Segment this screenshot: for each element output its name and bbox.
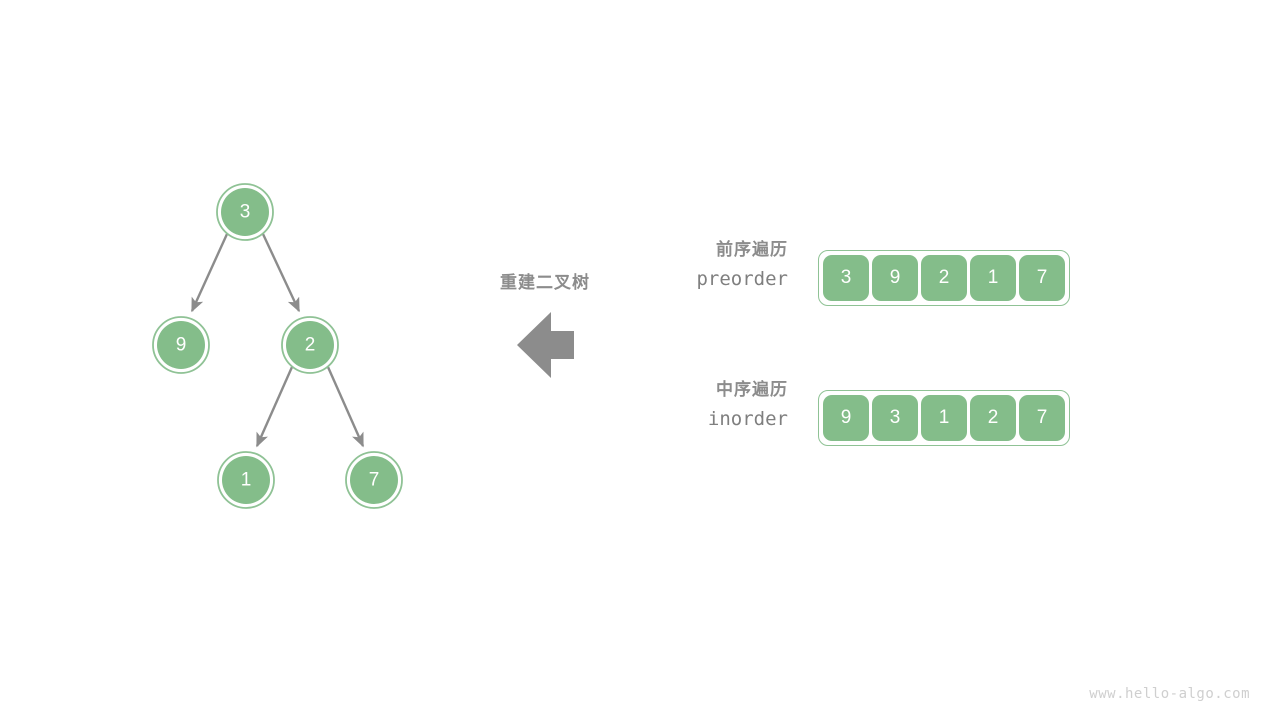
array-cell[interactable]: 9 [872, 255, 918, 301]
diagram-canvas: 3 9 2 1 7 [0, 0, 1280, 720]
preorder-array: 3 9 2 1 7 [818, 250, 1070, 306]
inorder-traversal-group: 中序遍历 inorder 9 3 1 2 7 [600, 368, 1070, 446]
array-cell[interactable]: 9 [823, 395, 869, 441]
left-block-arrow-icon [517, 312, 574, 378]
array-cell[interactable]: 2 [921, 255, 967, 301]
array-cell[interactable]: 3 [872, 395, 918, 441]
inorder-label-en: inorder [708, 402, 788, 436]
inorder-array: 9 3 1 2 7 [818, 390, 1070, 446]
preorder-label-en: preorder [696, 262, 788, 296]
transform-arrow-graphic [0, 0, 1280, 720]
preorder-label-cn: 前序遍历 [716, 238, 788, 262]
preorder-traversal-group: 前序遍历 preorder 3 9 2 1 7 [600, 228, 1070, 306]
array-cell[interactable]: 1 [921, 395, 967, 441]
array-cell[interactable]: 2 [970, 395, 1016, 441]
inorder-label-cn: 中序遍历 [716, 378, 788, 402]
array-cell[interactable]: 1 [970, 255, 1016, 301]
preorder-labels: 前序遍历 preorder [600, 238, 818, 296]
array-cell[interactable]: 7 [1019, 255, 1065, 301]
array-cell[interactable]: 3 [823, 255, 869, 301]
array-cell[interactable]: 7 [1019, 395, 1065, 441]
site-watermark: www.hello-algo.com [1089, 686, 1250, 702]
inorder-labels: 中序遍历 inorder [600, 378, 818, 436]
